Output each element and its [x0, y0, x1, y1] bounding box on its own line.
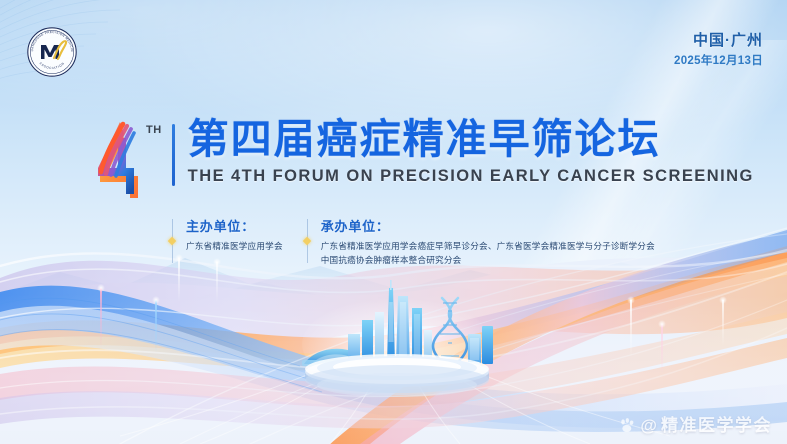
- title-divider-bar: [172, 124, 175, 186]
- baidu-paw-icon: [618, 416, 636, 434]
- watermark-at-symbol: @: [640, 417, 657, 434]
- organizer-coorg-line-1: 广东省精准医学应用学会癌症早筛早诊分会、广东省医学会精准医学与分子诊断学分会: [321, 240, 655, 254]
- light-beam-4: [216, 262, 218, 302]
- organizer-coorg-line-2: 中国抗癌协会肿瘤样本整合研究分会: [321, 254, 655, 268]
- title-block: TH 第四届癌症精准早筛论坛 THE 4TH FORUM ON PRECISIO…: [96, 116, 754, 202]
- light-beam-2: [155, 300, 157, 352]
- edition-number-four-graphic: [96, 116, 144, 202]
- organizer-coorganizer: 承办单位： 广东省精准医学应用学会癌症早筛早诊分会、广东省医学会精准医学与分子诊…: [307, 219, 655, 267]
- organizer-divider-2: [307, 219, 308, 263]
- light-beam-7: [722, 300, 724, 346]
- organizer-coorg-heading: 承办单位：: [321, 219, 655, 235]
- watermark: @ 精准医学学会: [618, 416, 772, 434]
- light-beam-6: [661, 324, 663, 374]
- event-city: 中国·广州: [674, 32, 763, 50]
- association-logo: GUANGDONG PRECISION MEDICINE ASSOCIATION: [25, 25, 79, 79]
- light-beam-1: [100, 288, 102, 348]
- light-beam-5: [630, 300, 632, 356]
- title-english: THE 4TH FORUM ON PRECISION EARLY CANCER …: [188, 167, 754, 186]
- location-date-block: 中国·广州 2025年12月13日: [674, 32, 763, 69]
- organizer-divider: [172, 219, 173, 263]
- organizer-host-heading: 主办单位：: [186, 219, 283, 235]
- diamond-accent-icon: [168, 237, 176, 245]
- watermark-text: 精准医学学会: [661, 417, 772, 434]
- edition-suffix: TH: [146, 124, 162, 136]
- organizer-block: 主办单位： 广东省精准医学应用学会 承办单位： 广东省精准医学应用学会癌症早筛早…: [172, 219, 655, 267]
- event-date: 2025年12月13日: [674, 55, 763, 69]
- organizer-host: 主办单位： 广东省精准医学应用学会: [172, 219, 283, 263]
- event-poster: GUANGDONG PRECISION MEDICINE ASSOCIATION…: [0, 0, 787, 444]
- city-skyline-illustration: [290, 272, 505, 400]
- title-chinese: 第四届癌症精准早筛论坛: [188, 118, 754, 161]
- organizer-host-line-1: 广东省精准医学应用学会: [186, 240, 283, 254]
- diamond-accent-icon-2: [302, 237, 310, 245]
